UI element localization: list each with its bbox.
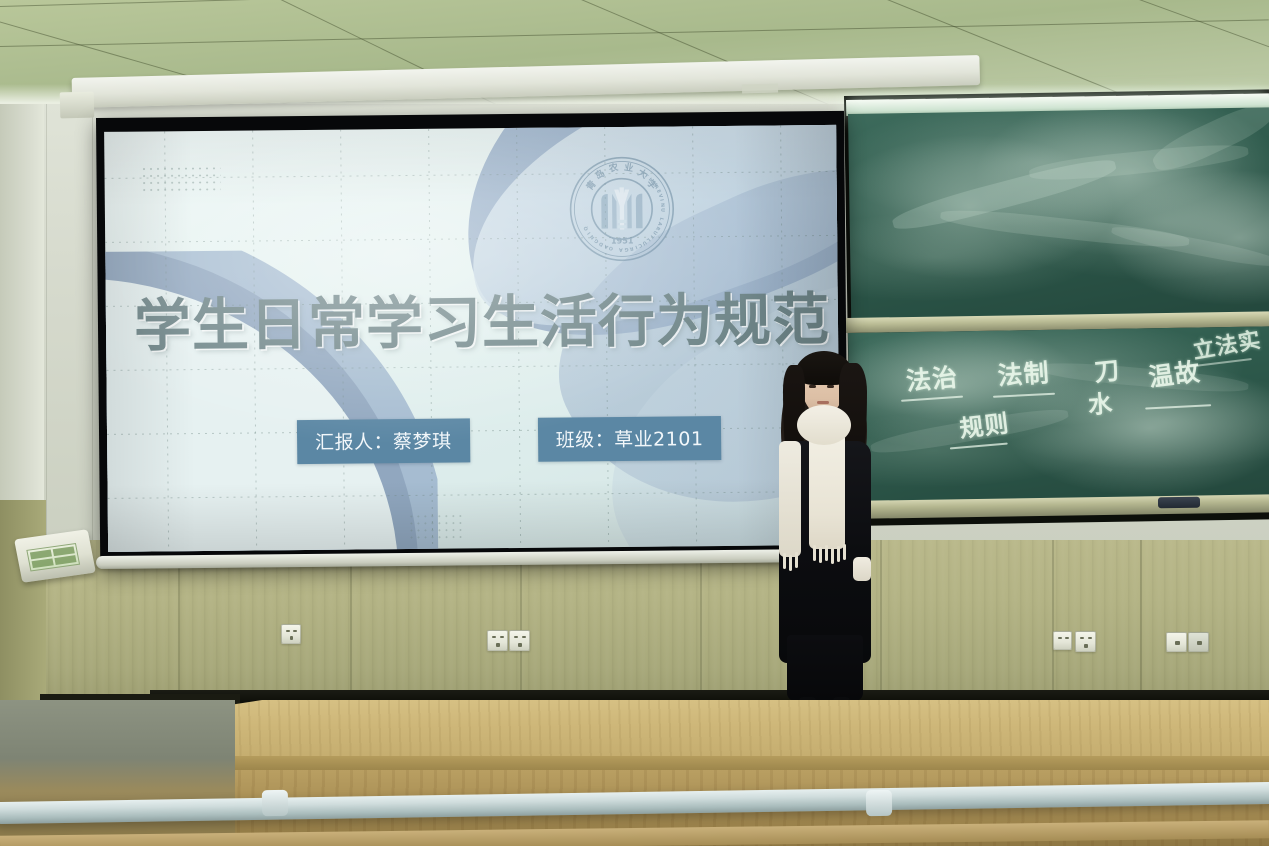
projection-screen[interactable]: 1951 青 岛 农 业 大 学 Q I N G [96,111,848,568]
projector-screen-endcap [60,92,95,119]
svg-text:G: G [624,246,629,252]
floor-left-area [0,700,235,846]
slide-canvas: 1951 青 岛 农 业 大 学 Q I N G [104,125,840,552]
svg-text:V: V [657,193,664,199]
svg-text:N: N [659,203,665,208]
chip-class: 班级：草业2101 [537,416,721,462]
blackboard-eraser-icon [1158,497,1200,509]
classroom-photo-scene: 法治 法制 刀 水 温故 规则 立法实 [0,0,1269,846]
svg-text:I: I [658,199,664,202]
control-box-label [26,543,80,572]
slide-dot-decoration-top [140,165,220,192]
presenter-glove [853,557,871,581]
projector-screen-sticker [742,84,778,94]
chip-presenter: 汇报人：蔡梦琪 [297,418,470,464]
svg-text:R: R [629,245,634,252]
chalk-text-fazhi2: 法制 [996,353,1050,392]
wall-corner-left [0,104,44,544]
presenter-scarf [797,405,851,445]
wall-outlet-double-left[interactable] [487,630,508,651]
presenter-scarf-tail-right [809,433,845,549]
chalk-text-shui: 水 [1087,384,1114,421]
svg-text:L: L [658,217,665,222]
svg-text:I: I [586,230,592,235]
rail-joint-left [262,790,288,816]
presenter-scarf-tail-left [779,441,801,557]
svg-text:U: U [659,208,665,212]
chalk-text-guize: 规则 [957,403,1011,444]
svg-text:Q: Q [583,225,590,232]
wall-outlet-pair-b-left[interactable] [1166,632,1187,652]
svg-text:业: 业 [623,161,634,174]
slide-dot-decoration-mid [408,512,464,543]
slide-title: 学生日常学习生活行为规范 [134,291,795,357]
rail-joint-right [866,790,892,816]
svg-text:1951: 1951 [611,235,634,245]
wall-outlet-pair-a-left[interactable] [1053,631,1072,650]
wall-outlet-double-right[interactable] [509,630,530,651]
qingdao-agricultural-university-seal-icon: 1951 青 岛 农 业 大 学 Q I N G [567,154,676,263]
wall-outlet-pair-b-right[interactable] [1188,632,1209,652]
svg-text:青: 青 [584,178,599,193]
svg-text:A: A [619,246,623,252]
chalk-text-fazhi: 法治 [904,358,959,398]
presenter-coat-lower [787,635,863,701]
blackboard-panel-upper [848,107,1269,320]
wall-outlet-single[interactable] [281,624,301,644]
wall-outlet-pair-a-right[interactable] [1075,631,1096,652]
svg-text:I: I [634,244,638,250]
slide-meta-chips: 汇报人：蔡梦琪 班级：草业2101 [297,416,722,464]
